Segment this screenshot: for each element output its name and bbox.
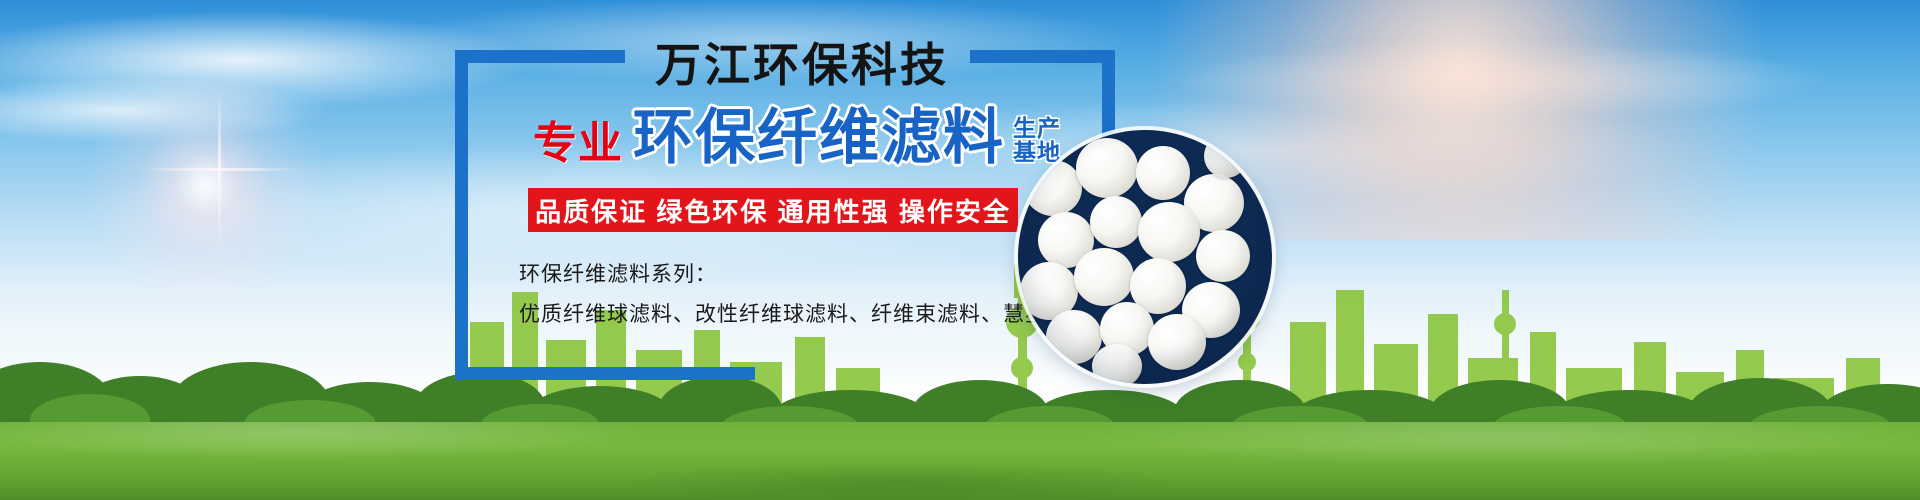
fiber-ball-cluster: [1018, 130, 1272, 384]
description-line-1: 环保纤维滤料系列：: [519, 258, 717, 288]
grass-field: [0, 422, 1920, 500]
feature-bar-text: 品质保证 绿色环保 通用性强 操作安全: [535, 192, 1011, 229]
headline-prefix: 专业: [533, 122, 623, 166]
promo-banner: 万江环保科技 专业 环保纤维滤料 生产 基地 品质保证 绿色环保 通用性强 操作…: [0, 0, 1920, 500]
frame-bar-bottom: [455, 367, 755, 380]
company-title: 万江环保科技: [655, 42, 949, 88]
frame-bar-left: [455, 50, 468, 380]
lens-flare: [40, 80, 370, 290]
feature-bar: 品质保证 绿色环保 通用性强 操作安全: [528, 188, 1018, 232]
frame-bar-top-right: [970, 50, 1115, 63]
headline: 专业 环保纤维滤料 生产 基地: [533, 108, 1061, 168]
product-image: [1018, 130, 1272, 384]
lens-flare-ray-vertical: [218, 90, 221, 250]
frame-bar-top-left: [455, 50, 625, 63]
lens-flare-ray-horizontal: [140, 168, 300, 171]
headline-main: 环保纤维滤料: [633, 108, 1005, 168]
